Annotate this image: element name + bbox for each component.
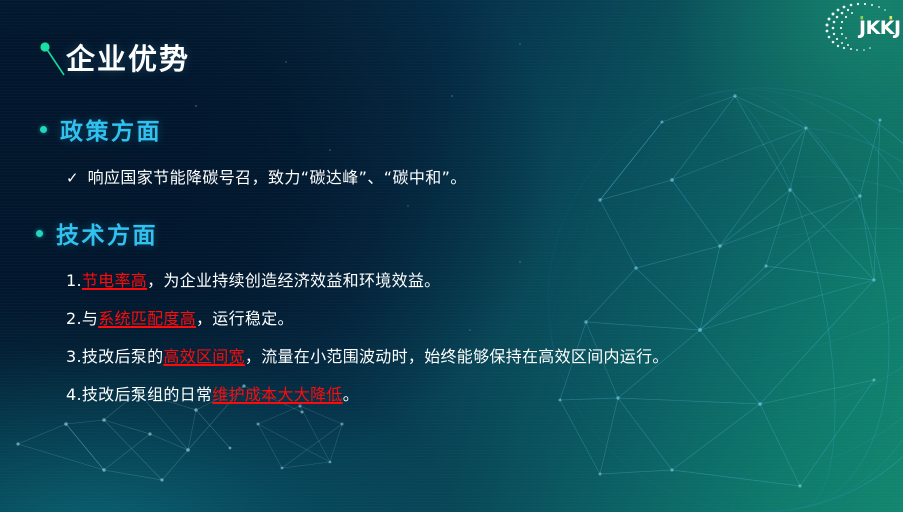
list-item-number: 4. bbox=[66, 385, 82, 404]
list-item-post: ，运行稳定。 bbox=[196, 309, 294, 328]
list-item-tech-1: 1.节电率高，为企业持续创造经济效益和环境效益。 bbox=[66, 267, 440, 291]
page-title: 企业优势 bbox=[66, 36, 190, 78]
list-item-tech-4: 4.技改后泵组的日常维护成本大大降低。 bbox=[66, 381, 359, 405]
list-item-highlight: 系统匹配度高 bbox=[98, 309, 196, 328]
list-item-highlight: 高效区间宽 bbox=[163, 347, 245, 366]
svg-text:JKKJ: JKKJ bbox=[857, 17, 901, 39]
list-item-tech-3: 3.技改后泵的高效区间宽，流量在小范围波动时，始终能够保持在高效区间内运行。 bbox=[66, 343, 669, 367]
list-item-pre: 与 bbox=[82, 309, 98, 328]
list-item-pre: 技改后泵的 bbox=[82, 347, 164, 366]
slide-canvas: JKKJ 企业优势 政策方面 ✓ bbox=[0, 0, 903, 512]
page-title-block: 企业优势 bbox=[40, 38, 460, 90]
list-item-number: 3. bbox=[66, 347, 82, 366]
list-item-post: 。 bbox=[343, 385, 359, 404]
section-heading-policy[interactable]: 政策方面 bbox=[40, 112, 162, 146]
list-item-post: ，流量在小范围波动时，始终能够保持在高效区间内运行。 bbox=[245, 347, 669, 366]
list-item-tech-2: 2.与系统匹配度高，运行稳定。 bbox=[66, 305, 294, 329]
check-mark-icon: ✓ bbox=[66, 169, 79, 187]
list-item-highlight: 节电率高 bbox=[82, 271, 147, 290]
list-item-policy-1: ✓ 响应国家节能降碳号召，致力“碳达峰”、“碳中和”。 bbox=[66, 164, 467, 188]
list-item-number: 1. bbox=[66, 271, 82, 290]
list-item-text: 响应国家节能降碳号召，致力“碳达峰”、“碳中和”。 bbox=[88, 164, 467, 188]
list-item-number: 2. bbox=[66, 309, 82, 328]
list-item-highlight: 维护成本大大降低 bbox=[212, 385, 342, 404]
company-logo: JKKJ bbox=[821, 0, 903, 52]
list-item-post: ，为企业持续创造经济效益和环境效益。 bbox=[147, 271, 440, 290]
section-heading-label: 政策方面 bbox=[60, 112, 162, 146]
list-item-pre: 技改后泵组的日常 bbox=[82, 385, 212, 404]
section-heading-label: 技术方面 bbox=[56, 216, 158, 250]
section-heading-technology[interactable]: 技术方面 bbox=[36, 216, 158, 250]
bullet-dot-icon bbox=[36, 230, 43, 237]
bullet-dot-icon bbox=[40, 126, 47, 133]
